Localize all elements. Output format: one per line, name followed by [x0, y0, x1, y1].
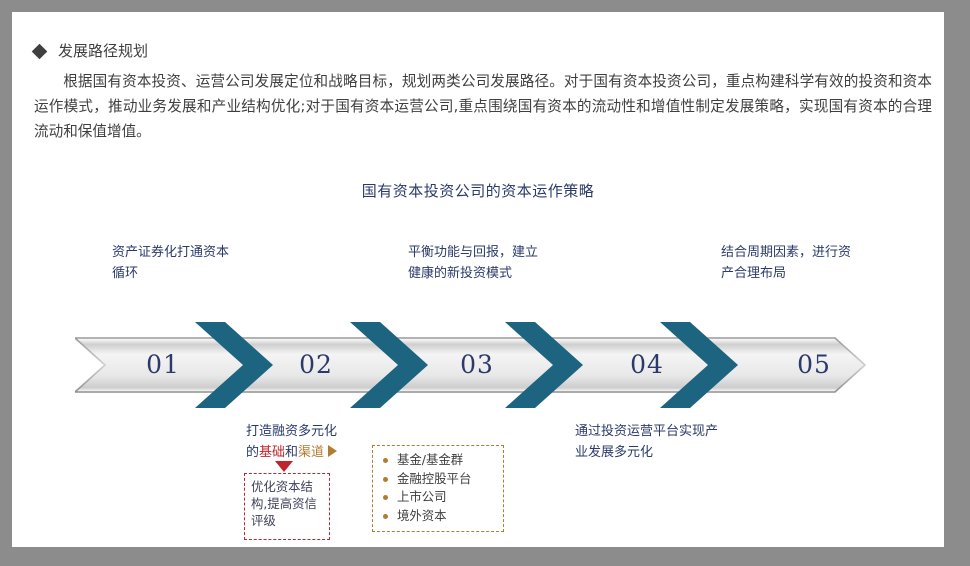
section-heading-label: 发展路径规划 — [58, 44, 148, 59]
step-number-05: 05 — [769, 350, 859, 379]
callout-step-02-middle: 和 — [285, 445, 298, 460]
list-item: 上市公司 — [381, 488, 495, 507]
callout-step-05: 结合周期因素，进行资产合理布局 — [721, 242, 857, 284]
diamond-bullet-icon — [32, 44, 48, 60]
callout-step-01: 资产证券化打通资本循环 — [112, 242, 232, 284]
red-dashed-note: 优化资本结构,提高资信评级 — [244, 473, 330, 540]
callout-step-02-highlight-red: 基础 — [259, 445, 285, 460]
diagram-title: 国有资本投资公司的资本运作策略 — [12, 180, 944, 201]
callout-step-03: 平衡功能与回报，建立健康的新投资模式 — [408, 242, 544, 284]
tan-list: 基金/基金群 金融控股平台 上市公司 境外资本 — [381, 451, 495, 525]
step-number-03: 03 — [432, 350, 522, 379]
callout-step-02: 打造融资多元化 的基础和渠道 — [246, 421, 384, 463]
slide-canvas: 发展路径规划 根据国有资本投资、运营公司发展定位和战略目标，规划两类公司发展路径… — [12, 12, 944, 547]
callout-step-02-line1: 打造融资多元化 — [246, 424, 337, 439]
triangle-down-icon — [275, 461, 293, 472]
section-heading: 发展路径规划 — [34, 44, 148, 59]
tan-dashed-list: 基金/基金群 金融控股平台 上市公司 境外资本 — [372, 445, 504, 532]
callout-step-02-prefix: 的 — [246, 445, 259, 460]
step-number-02: 02 — [271, 350, 361, 379]
triangle-right-icon — [328, 445, 337, 457]
callout-step-02-highlight-tan: 渠道 — [298, 445, 324, 460]
step-number-04: 04 — [602, 350, 692, 379]
list-item: 金融控股平台 — [381, 470, 495, 489]
list-item: 境外资本 — [381, 507, 495, 526]
step-number-01: 01 — [118, 350, 208, 379]
callout-step-04: 通过投资运营平台实现产业发展多元化 — [575, 421, 725, 463]
body-paragraph: 根据国有资本投资、运营公司发展定位和战略目标，规划两类公司发展路径。对于国有资本… — [34, 69, 932, 144]
list-item: 基金/基金群 — [381, 451, 495, 470]
